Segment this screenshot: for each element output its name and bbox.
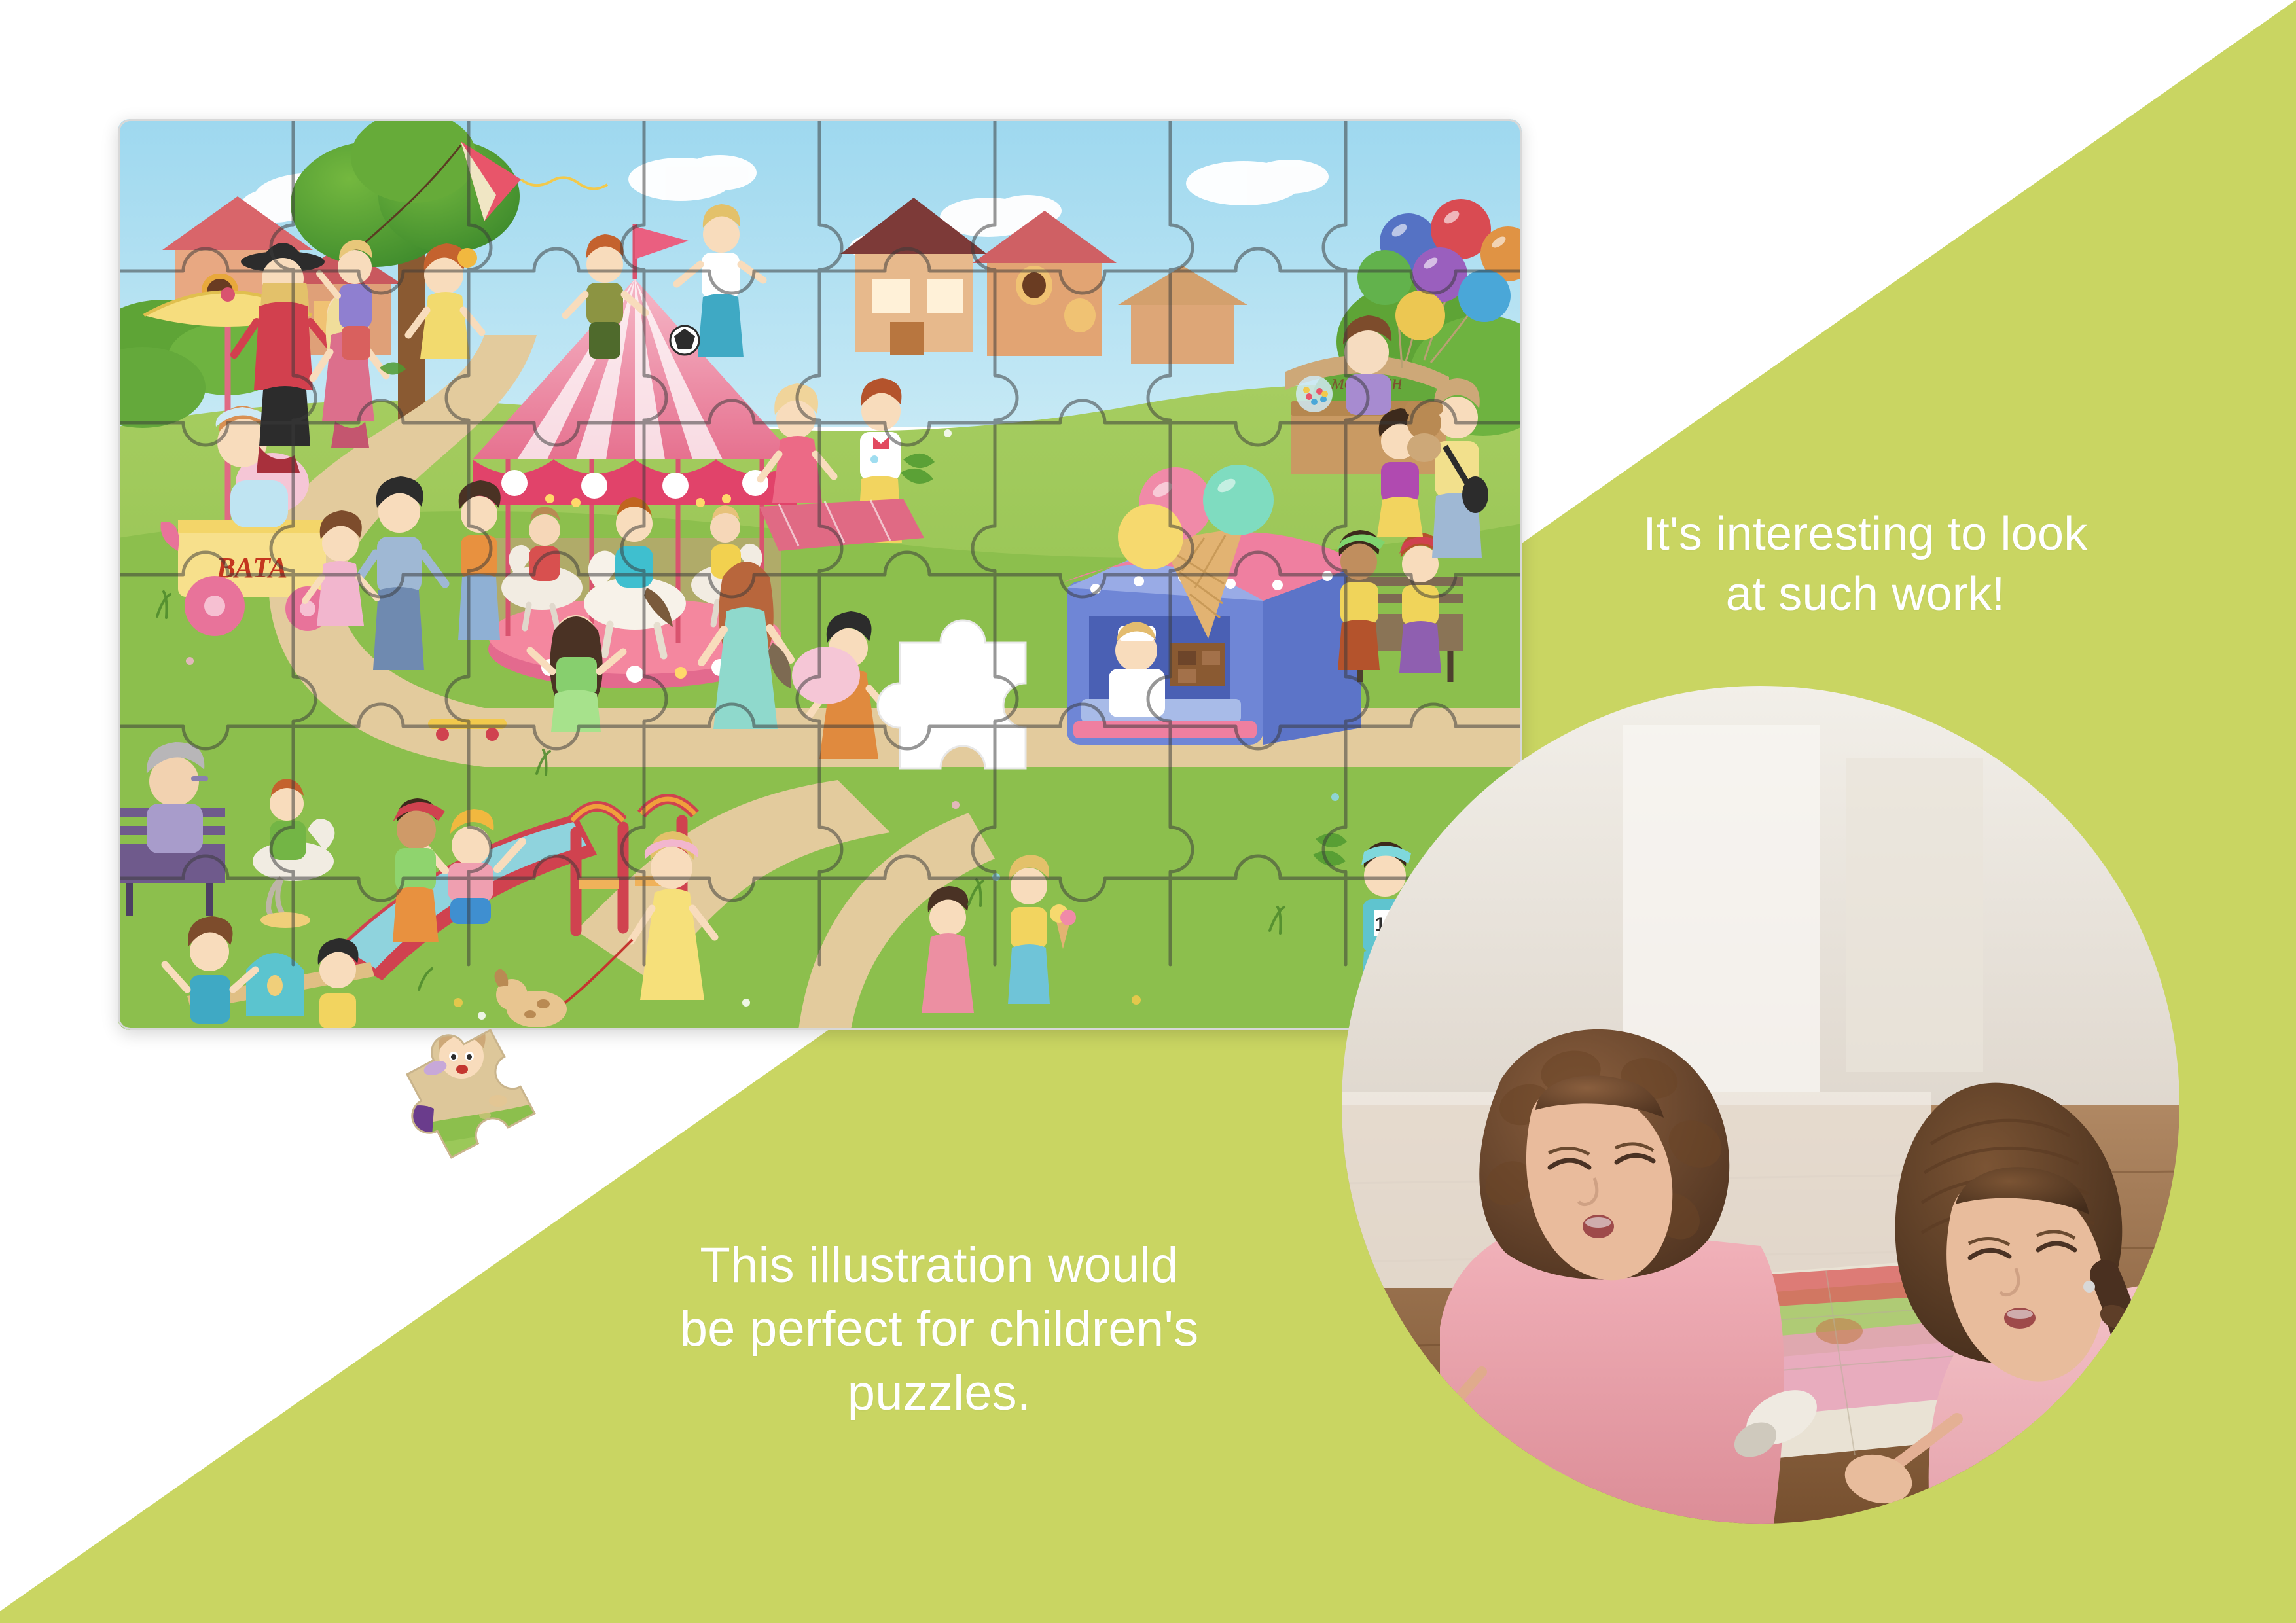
caption-bottom-left: This illustration would be perfect for c…: [609, 1234, 1270, 1425]
caption-bottom-line-2: be perfect for children's: [609, 1297, 1270, 1361]
piece-legs: [404, 1105, 435, 1182]
caption-top-line-1: It's interesting to look: [1532, 504, 2199, 564]
caption-bottom-line-3: puzzles.: [609, 1361, 1270, 1425]
loose-jigsaw-piece[interactable]: [370, 1013, 596, 1239]
kids-doing-puzzle-photo: [1342, 686, 2179, 1524]
earring: [2083, 1281, 2095, 1293]
caption-top-right: It's interesting to look at such work!: [1532, 504, 2199, 624]
person-curly-orange-boy: [458, 480, 501, 640]
piece-dark-hair: [453, 1194, 512, 1239]
caption-top-line-2: at such work!: [1532, 564, 2199, 624]
person-pink-coat-kid: [922, 886, 974, 1013]
caption-bottom-line-1: This illustration would: [609, 1234, 1270, 1297]
puzzle-board[interactable]: ВАТА: [118, 119, 1522, 1030]
person-cotton-candy-girl: [792, 647, 860, 704]
person-bench-girl: [1336, 530, 1385, 670]
